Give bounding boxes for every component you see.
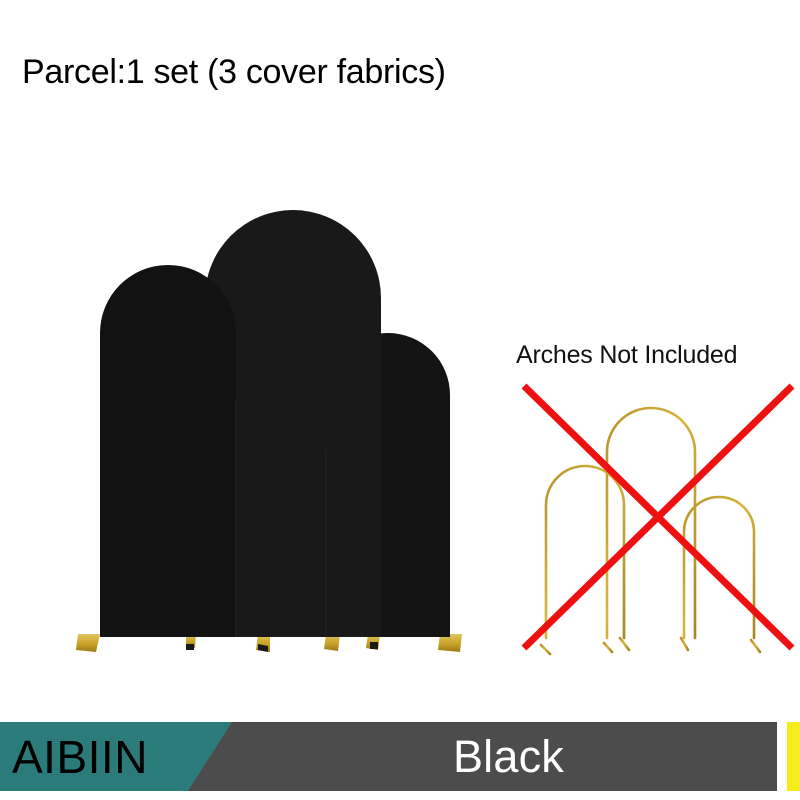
arches-not-included-caption: Arches Not Included xyxy=(516,340,737,370)
gold-arch-frame-center xyxy=(604,408,695,652)
gold-arch-frame-left xyxy=(541,466,629,654)
arch-cover-feet-center xyxy=(256,634,380,652)
arch-covers-illustration xyxy=(0,0,800,800)
product-image-canvas: Parcel:1 set (3 cover fabrics) xyxy=(0,0,800,800)
parcel-headline: Parcel:1 set (3 cover fabrics) xyxy=(22,52,446,92)
excluded-arches-illustration xyxy=(0,0,800,800)
bottom-banner: AIBIIN Black xyxy=(0,722,800,791)
banner-yellow-accent xyxy=(787,722,800,791)
red-cross-marker xyxy=(524,386,792,648)
arch-cover-feet-left xyxy=(76,634,196,652)
arch-cover-left xyxy=(100,265,236,637)
brand-logo-text: AIBIIN xyxy=(12,733,148,781)
color-variant-label: Black xyxy=(240,733,777,781)
gold-arch-frame-right xyxy=(681,497,760,652)
arch-cover-center xyxy=(205,210,381,637)
arch-cover-feet-right xyxy=(324,634,462,652)
arch-cover-right xyxy=(326,333,450,637)
